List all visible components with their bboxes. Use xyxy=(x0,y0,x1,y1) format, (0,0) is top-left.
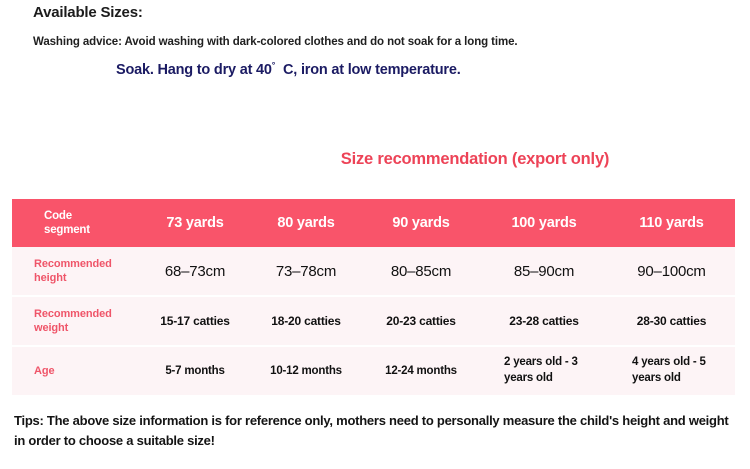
row-label-line-1: Recommended xyxy=(34,308,112,320)
column-header-90-yards: 90 yards xyxy=(362,199,480,247)
size-recommendation-heading-text: Size recommendation (export only) xyxy=(341,150,609,169)
cell-weight-110: 28-30 catties xyxy=(608,296,735,346)
cell-height-90: 80–85cm xyxy=(362,247,480,296)
row-label-line-2: weight xyxy=(34,322,68,334)
column-header-100-yards: 100 yards xyxy=(480,199,608,247)
table-header-row: Code segment 73 yards 80 yards 90 yards … xyxy=(12,199,735,247)
cell-height-100: 85–90cm xyxy=(480,247,608,296)
row-label-age: Age xyxy=(12,346,140,395)
row-label-line-2: height xyxy=(34,272,66,284)
code-segment-line-1: Code xyxy=(44,210,72,222)
cell-age-80: 10-12 months xyxy=(250,346,362,395)
cell-age-110: 4 years old - 5 years old xyxy=(608,346,735,395)
cell-height-110: 90–100cm xyxy=(608,247,735,296)
row-label-recommended-weight: Recommended weight xyxy=(12,296,140,346)
size-chart-page: Available Sizes: Washing advice: Avoid w… xyxy=(0,0,750,469)
cell-weight-100: 23-28 catties xyxy=(480,296,608,346)
size-recommendation-heading: Size recommendation (export only) xyxy=(0,150,750,169)
cell-weight-73: 15-17 catties xyxy=(140,296,250,346)
soak-instruction-suffix: C, iron at low temperature. xyxy=(283,62,461,78)
cell-height-73: 68–73cm xyxy=(140,247,250,296)
row-label-line-1: Recommended xyxy=(34,258,112,270)
column-header-80-yards: 80 yards xyxy=(250,199,362,247)
table-row-age: Age 5-7 months 10-12 months 12-24 months… xyxy=(12,346,735,395)
washing-advice-text: Washing advice: Avoid washing with dark-… xyxy=(33,36,517,48)
column-header-73-yards: 73 yards xyxy=(140,199,250,247)
column-header-110-yards: 110 yards xyxy=(608,199,735,247)
cell-age-90: 12-24 months xyxy=(362,346,480,395)
cell-age-100: 2 years old - 3 years old xyxy=(480,346,608,395)
size-recommendation-table: Code segment 73 yards 80 yards 90 yards … xyxy=(12,199,735,395)
code-segment-line-2: segment xyxy=(44,224,90,236)
column-header-code-segment: Code segment xyxy=(12,199,140,247)
row-label-recommended-height: Recommended height xyxy=(12,247,140,296)
cell-weight-80: 18-20 catties xyxy=(250,296,362,346)
cell-age-73: 5-7 months xyxy=(140,346,250,395)
soak-instruction-text: Soak. Hang to dry at 40° C, iron at low … xyxy=(116,60,461,78)
cell-height-80: 73–78cm xyxy=(250,247,362,296)
cell-weight-90: 20-23 catties xyxy=(362,296,480,346)
table-row-recommended-weight: Recommended weight 15-17 catties 18-20 c… xyxy=(12,296,735,346)
table-row-recommended-height: Recommended height 68–73cm 73–78cm 80–85… xyxy=(12,247,735,296)
tips-footer-text: Tips: The above size information is for … xyxy=(14,411,736,450)
degree-symbol: ° xyxy=(272,60,276,70)
soak-instruction-prefix: Soak. Hang to dry at 40 xyxy=(116,62,272,78)
available-sizes-title: Available Sizes: xyxy=(33,4,143,21)
